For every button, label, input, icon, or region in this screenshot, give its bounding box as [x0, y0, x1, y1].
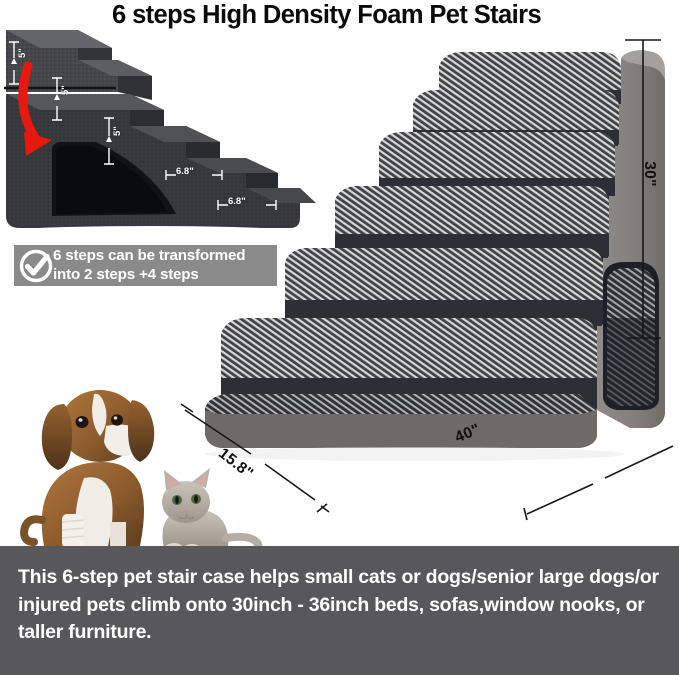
cat-figure [162, 468, 258, 554]
inset-dim-step-rise-1: 5" [17, 48, 28, 58]
inset-dim-step-rise-2: 5" [60, 85, 71, 95]
check-circle-icon [17, 247, 55, 285]
pets-illustration [14, 370, 284, 560]
inset-upper-block [6, 30, 152, 100]
pets-photo [14, 370, 284, 560]
inset-dim-step-rise-3: 5" [112, 126, 123, 136]
dog-figure [24, 390, 154, 558]
bottom-caption: This 6-step pet stair case helps small c… [0, 546, 679, 675]
product-dim-height: 30" [640, 161, 658, 187]
infographic-canvas: 6 steps High Density Foam Pet Stairs [0, 0, 679, 675]
